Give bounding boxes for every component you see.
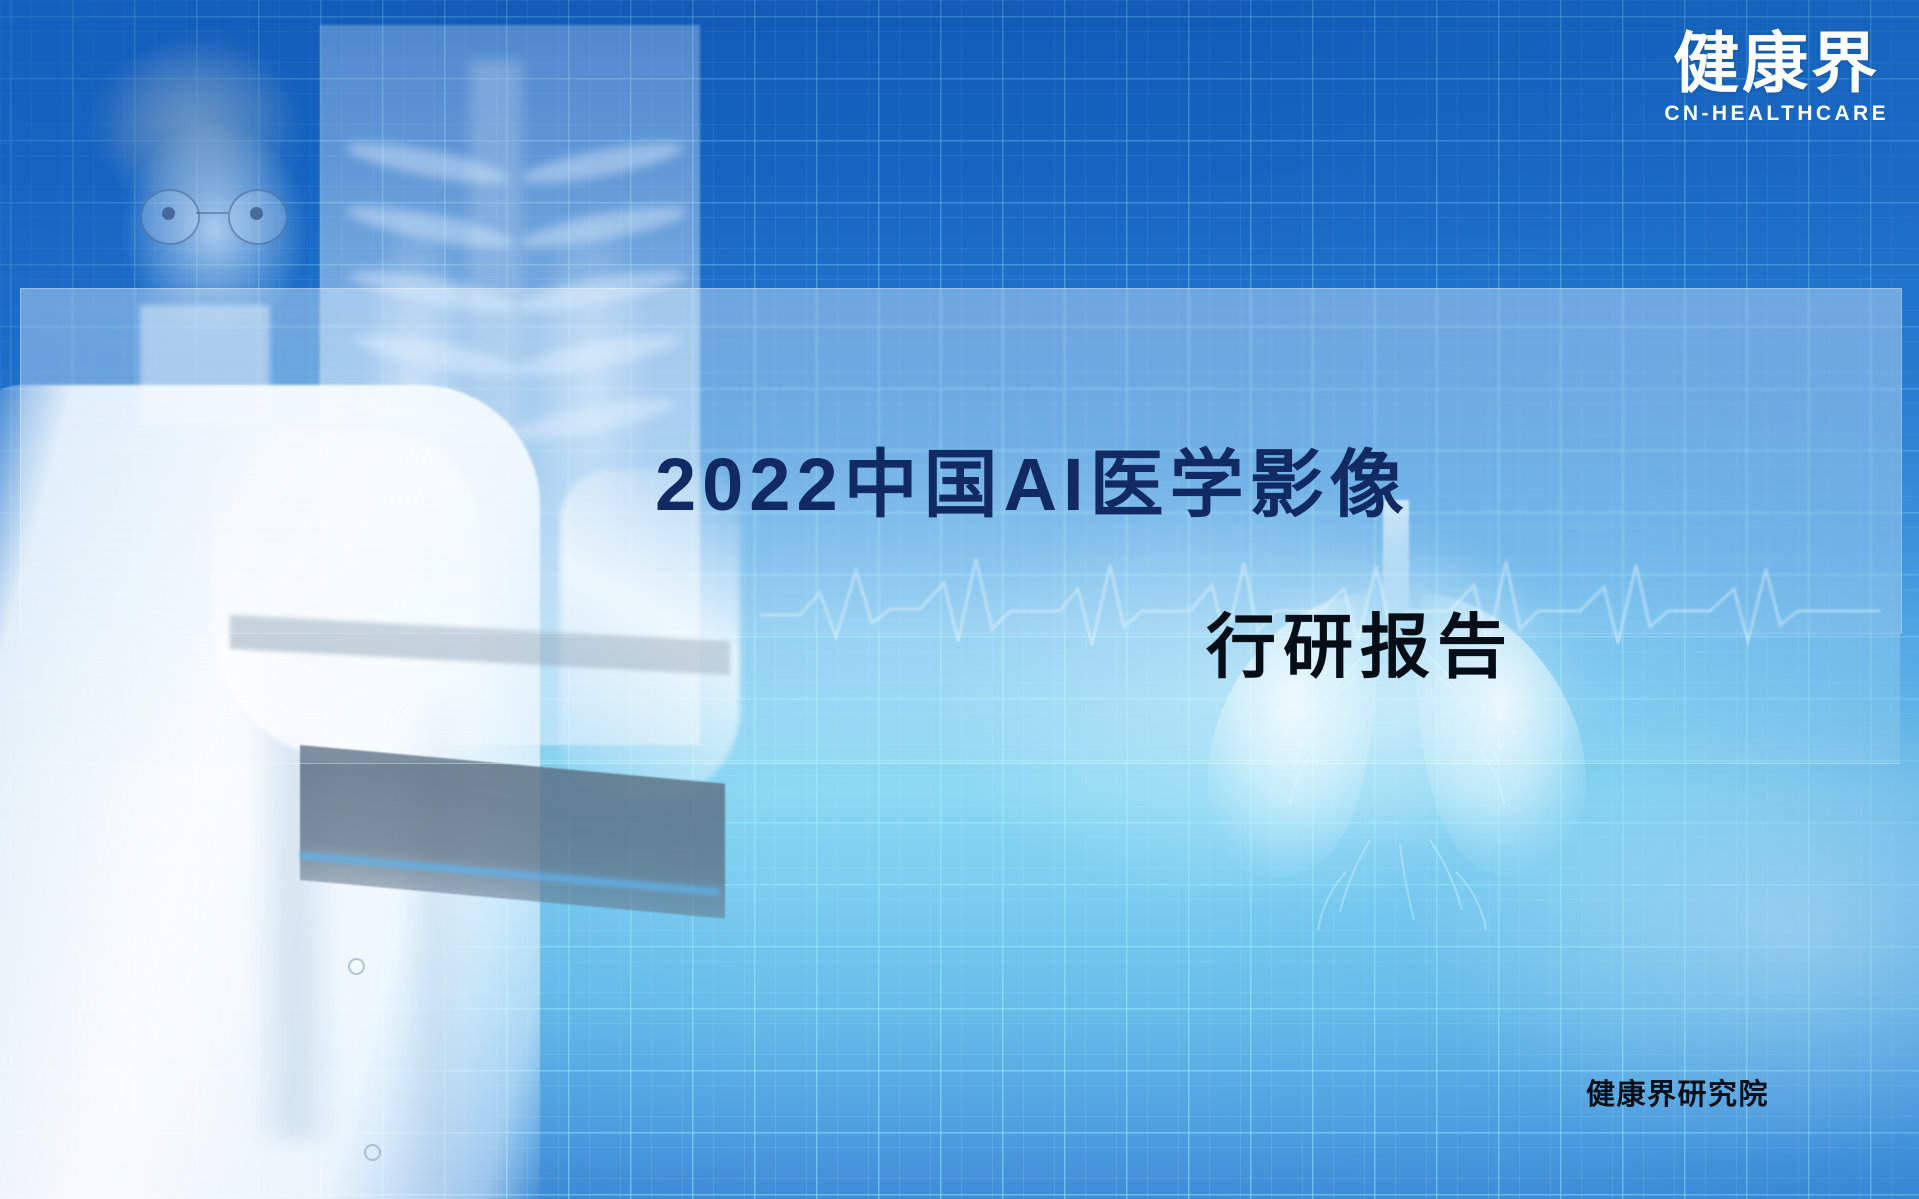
brand-logo-cn: 健康界 [1664, 28, 1889, 99]
footer-organization: 健康界研究院 [1586, 1071, 1769, 1113]
page-title: 2022中国AI医学影像 [655, 448, 1410, 522]
brand-logo-en: CN-HEALTHCARE [1664, 102, 1889, 126]
subtitle-panel-band [20, 633, 1900, 764]
page-subtitle: 行研报告 [1206, 612, 1514, 682]
report-cover-slide: 健康界 CN-HEALTHCARE 2022中国AI医学影像 行研报告 健康界研… [0, 0, 1919, 1199]
brand-logo: 健康界 CN-HEALTHCARE [1664, 28, 1889, 126]
